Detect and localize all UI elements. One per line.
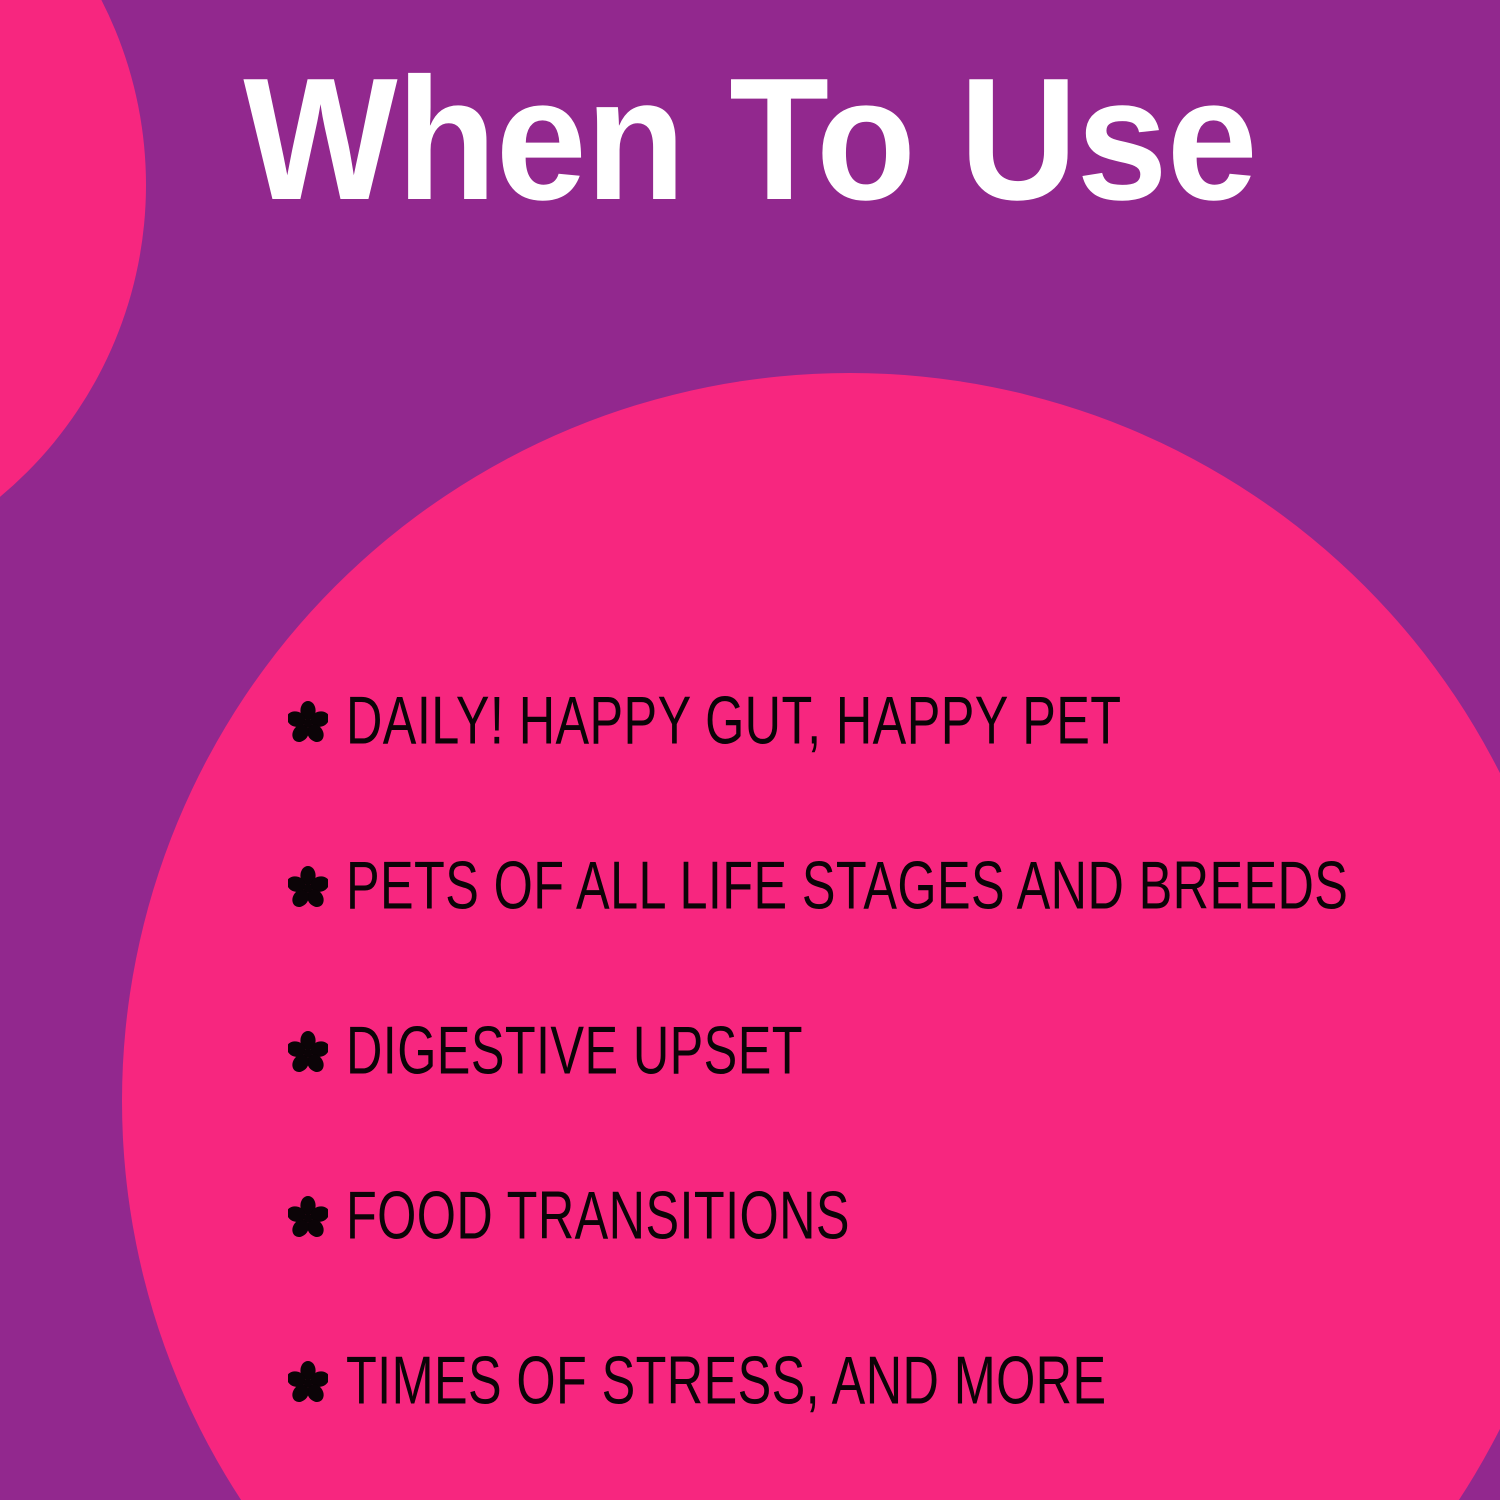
list-item: DIGESTIVE UPSET (288, 1015, 1468, 1087)
flower-asterisk-icon (288, 866, 328, 910)
list-item-label: TIMES OF STRESS, AND MORE (346, 1347, 1106, 1414)
list-item-label: DIGESTIVE UPSET (346, 1017, 803, 1084)
promo-graphic-canvas: When To Use DAILY! HAPPY GUT, HAPPY PET (0, 0, 1500, 1500)
when-to-use-list: DAILY! HAPPY GUT, HAPPY PET PETS OF ALL … (288, 685, 1468, 1417)
flower-asterisk-icon (288, 1031, 328, 1075)
list-item: TIMES OF STRESS, AND MORE (288, 1345, 1468, 1417)
flower-asterisk-icon (288, 701, 328, 745)
list-item-label: PETS OF ALL LIFE STAGES AND BREEDS (346, 852, 1348, 919)
flower-asterisk-icon (288, 1361, 328, 1405)
list-item: DAILY! HAPPY GUT, HAPPY PET (288, 685, 1468, 757)
page-title: When To Use (45, 52, 1455, 226)
list-item-label: FOOD TRANSITIONS (346, 1182, 850, 1249)
list-item: PETS OF ALL LIFE STAGES AND BREEDS (288, 850, 1468, 922)
list-item-label: DAILY! HAPPY GUT, HAPPY PET (346, 687, 1121, 754)
flower-asterisk-icon (288, 1196, 328, 1240)
list-item: FOOD TRANSITIONS (288, 1180, 1468, 1252)
